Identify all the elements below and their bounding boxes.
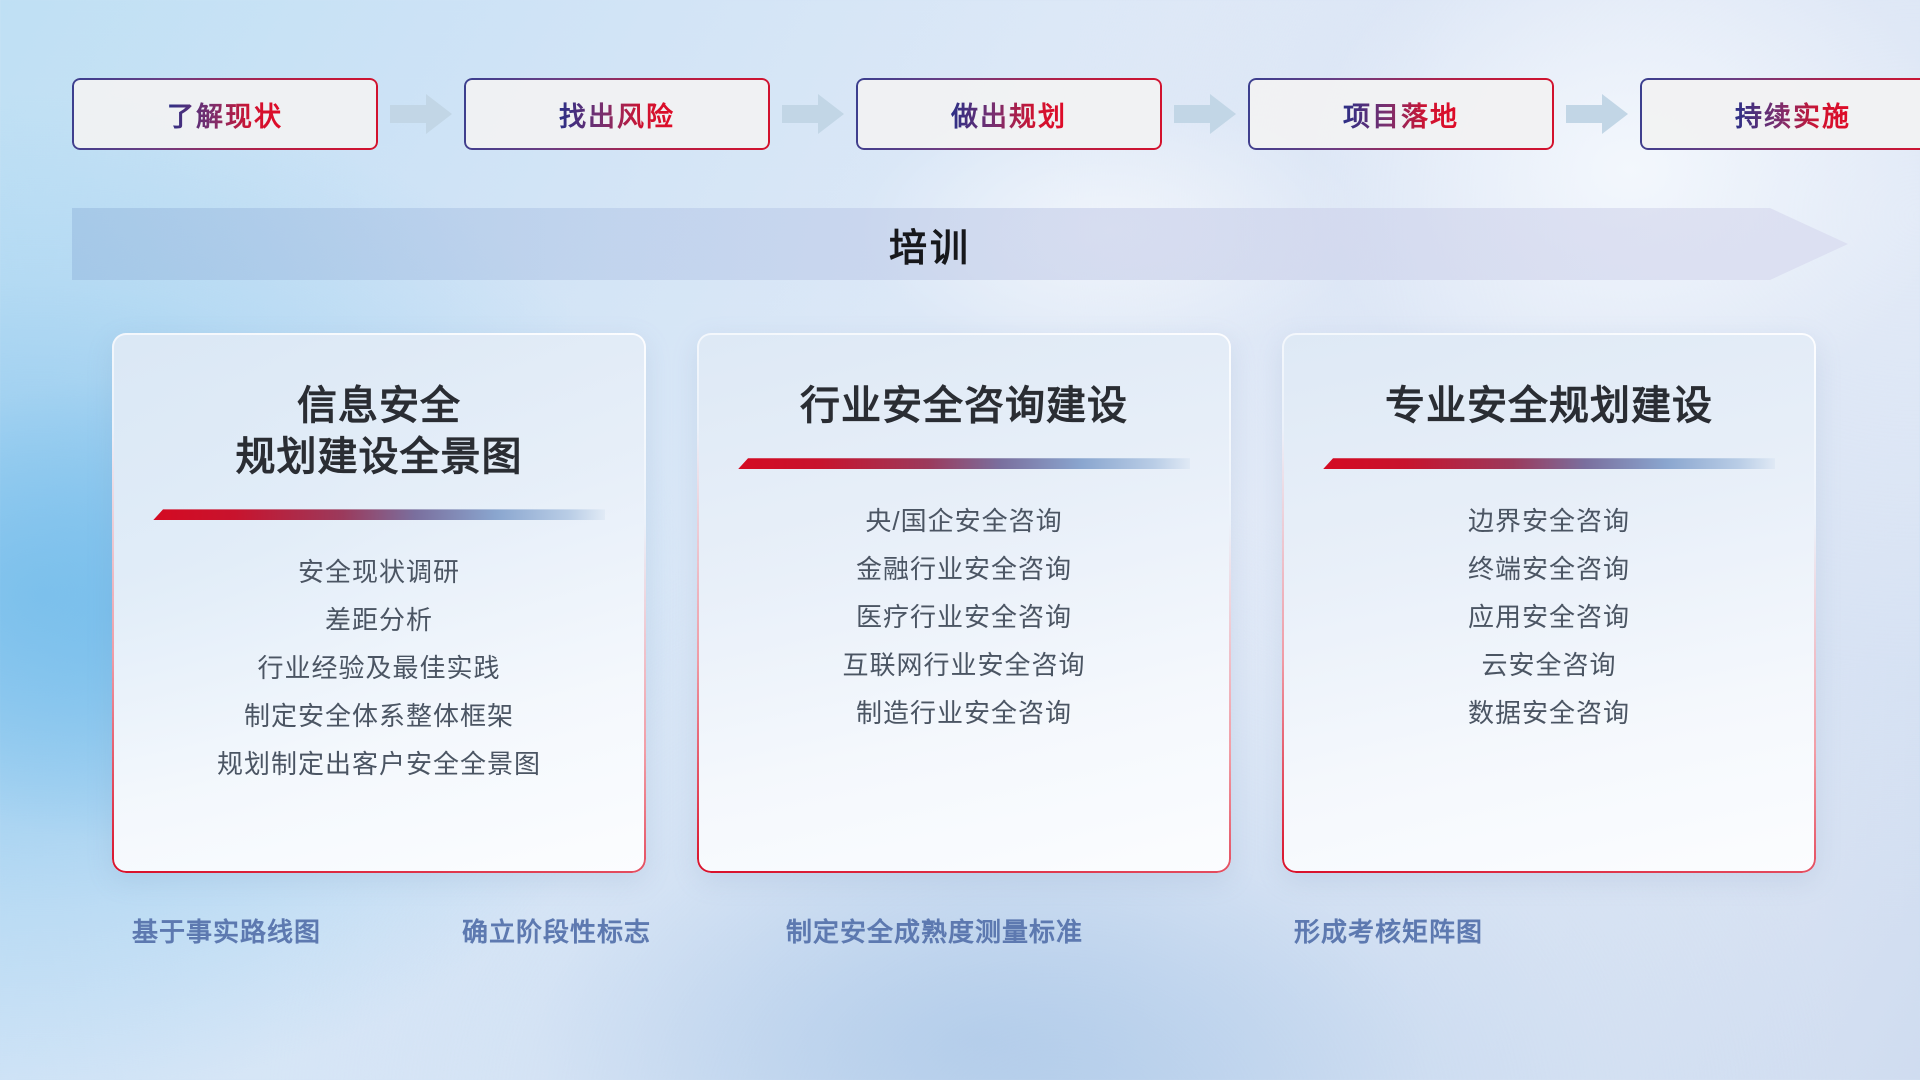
service-card-1[interactable]: 行业安全咨询建设 央/国企安全咨询 金融行业安全咨询 医疗行业安全咨询 互联网行… <box>697 333 1231 873</box>
list-item: 制定安全体系整体框架 <box>217 692 541 740</box>
process-step-flow: 了解现状 找出风险 做出规划 项目落地 持续实施 <box>72 78 1852 150</box>
training-banner: 培训 <box>72 208 1848 280</box>
card-item-list: 边界安全咨询 终端安全咨询 应用安全咨询 云安全咨询 数据安全咨询 <box>1468 497 1630 737</box>
list-item: 金融行业安全咨询 <box>842 545 1085 593</box>
footer-caption: 制定安全成熟度测量标准 <box>786 912 1083 949</box>
right-arrow-icon <box>1564 92 1630 136</box>
list-item: 云安全咨询 <box>1468 641 1630 689</box>
list-item: 制造行业安全咨询 <box>842 689 1085 737</box>
card-title: 行业安全咨询建设 <box>800 381 1128 432</box>
list-item: 互联网行业安全咨询 <box>842 641 1085 689</box>
card-divider <box>738 458 1190 469</box>
card-divider <box>1323 458 1775 469</box>
footer-caption: 确立阶段性标志 <box>462 912 651 949</box>
process-step-label: 持续实施 <box>1735 95 1851 134</box>
process-step-2[interactable]: 做出规划 <box>856 78 1162 150</box>
list-item: 终端安全咨询 <box>1468 545 1630 593</box>
list-item: 规划制定出客户安全全景图 <box>217 740 541 788</box>
card-title: 信息安全 规划建设全景图 <box>236 381 523 483</box>
card-title: 专业安全规划建设 <box>1385 381 1713 432</box>
list-item: 边界安全咨询 <box>1468 497 1630 545</box>
card-divider <box>153 509 605 520</box>
right-arrow-icon <box>780 92 846 136</box>
list-item: 应用安全咨询 <box>1468 593 1630 641</box>
right-arrow-icon <box>388 92 454 136</box>
process-step-label: 了解现状 <box>167 95 283 134</box>
footer-caption: 形成考核矩阵图 <box>1294 912 1483 949</box>
banner-title: 培训 <box>72 208 1848 280</box>
card-item-list: 安全现状调研 差距分析 行业经验及最佳实践 制定安全体系整体框架 规划制定出客户… <box>217 548 541 788</box>
list-item: 医疗行业安全咨询 <box>842 593 1085 641</box>
process-step-3[interactable]: 项目落地 <box>1248 78 1554 150</box>
process-step-label: 项目落地 <box>1343 95 1459 134</box>
service-card-2[interactable]: 专业安全规划建设 边界安全咨询 终端安全咨询 应用安全咨询 云安全咨询 数据安全… <box>1282 333 1816 873</box>
list-item: 行业经验及最佳实践 <box>217 644 541 692</box>
process-step-0[interactable]: 了解现状 <box>72 78 378 150</box>
service-card-0[interactable]: 信息安全 规划建设全景图 安全现状调研 差距分析 行业经验及最佳实践 制定安全体… <box>112 333 646 873</box>
list-item: 央/国企安全咨询 <box>842 497 1085 545</box>
footer-caption: 基于事实路线图 <box>132 912 321 949</box>
right-arrow-icon <box>1172 92 1238 136</box>
list-item: 数据安全咨询 <box>1468 689 1630 737</box>
process-step-label: 做出规划 <box>951 95 1067 134</box>
list-item: 差距分析 <box>217 596 541 644</box>
card-item-list: 央/国企安全咨询 金融行业安全咨询 医疗行业安全咨询 互联网行业安全咨询 制造行… <box>842 497 1085 737</box>
process-step-1[interactable]: 找出风险 <box>464 78 770 150</box>
service-card-group: 信息安全 规划建设全景图 安全现状调研 差距分析 行业经验及最佳实践 制定安全体… <box>112 333 1816 873</box>
process-step-4[interactable]: 持续实施 <box>1640 78 1920 150</box>
process-step-label: 找出风险 <box>559 95 675 134</box>
footer-caption-group: 基于事实路线图 确立阶段性标志 制定安全成熟度测量标准 形成考核矩阵图 <box>0 912 1920 962</box>
list-item: 安全现状调研 <box>217 548 541 596</box>
